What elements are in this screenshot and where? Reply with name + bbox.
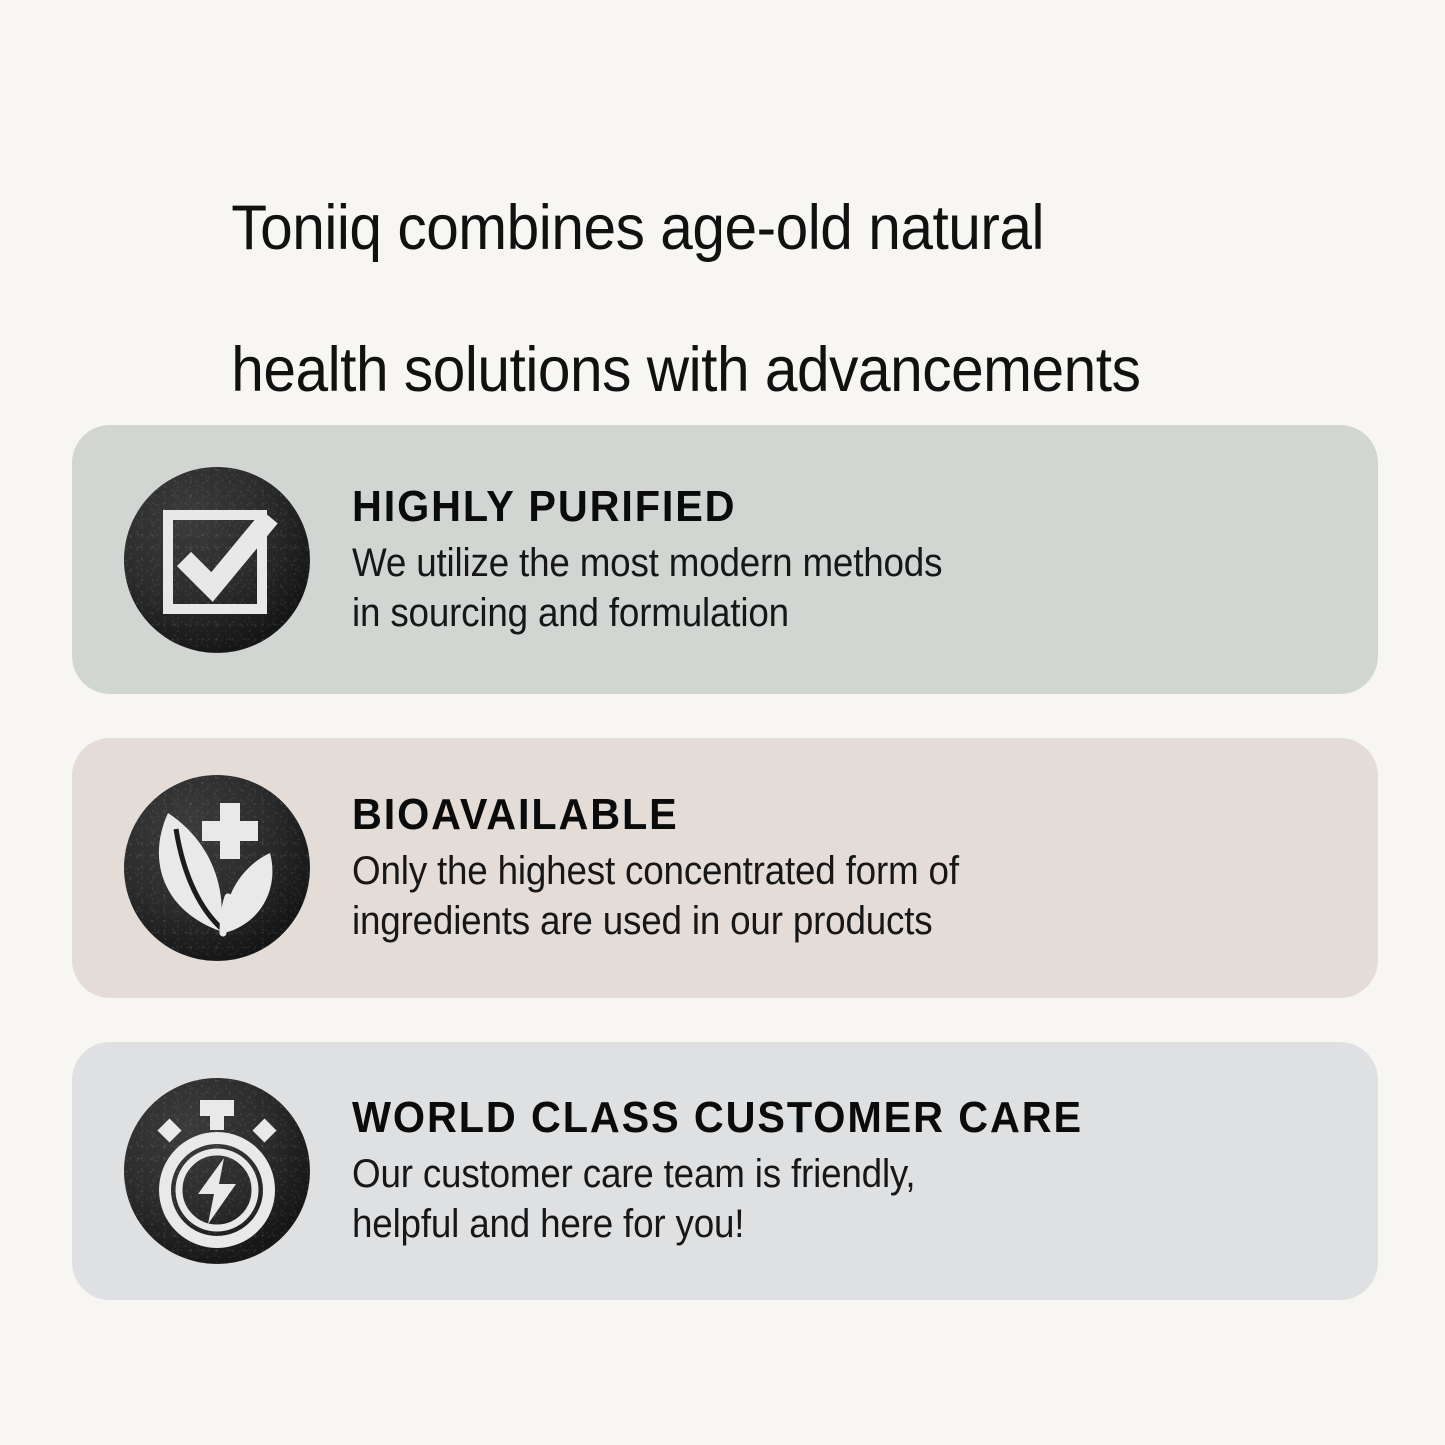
feature-card-customer-care: WORLD CLASS CUSTOMER CARE Our customer c…: [72, 1042, 1378, 1300]
headline-line-2: health solutions with advancements: [231, 335, 1140, 405]
leaf-plus-icon: [124, 775, 310, 961]
card-title: HIGHLY PURIFIED: [352, 482, 1288, 532]
feature-card-bioavailable: BIOAVAILABLE Only the highest concentrat…: [72, 738, 1378, 998]
feature-card-list: HIGHLY PURIFIED We utilize the most mode…: [72, 425, 1378, 1344]
card-description: Only the highest concentrated form of in…: [352, 846, 1268, 946]
headline-line-1: Toniiq combines age-old natural: [231, 193, 1044, 263]
icon-container: [124, 467, 310, 653]
icon-container: [124, 1078, 310, 1264]
card-title: BIOAVAILABLE: [352, 790, 1288, 840]
card-description: Our customer care team is friendly, help…: [352, 1149, 1268, 1249]
card-title: WORLD CLASS CUSTOMER CARE: [352, 1093, 1288, 1143]
stopwatch-bolt-icon: [124, 1078, 310, 1264]
card-text-block: WORLD CLASS CUSTOMER CARE Our customer c…: [352, 1093, 1378, 1249]
infographic-page: Toniiq combines age-old natural health s…: [0, 0, 1445, 1445]
card-text-block: HIGHLY PURIFIED We utilize the most mode…: [352, 482, 1378, 638]
card-description: We utilize the most modern methods in so…: [352, 538, 1268, 638]
checkbox-check-icon: [124, 467, 310, 653]
icon-container: [124, 775, 310, 961]
feature-card-highly-purified: HIGHLY PURIFIED We utilize the most mode…: [72, 425, 1378, 694]
card-text-block: BIOAVAILABLE Only the highest concentrat…: [352, 790, 1378, 946]
